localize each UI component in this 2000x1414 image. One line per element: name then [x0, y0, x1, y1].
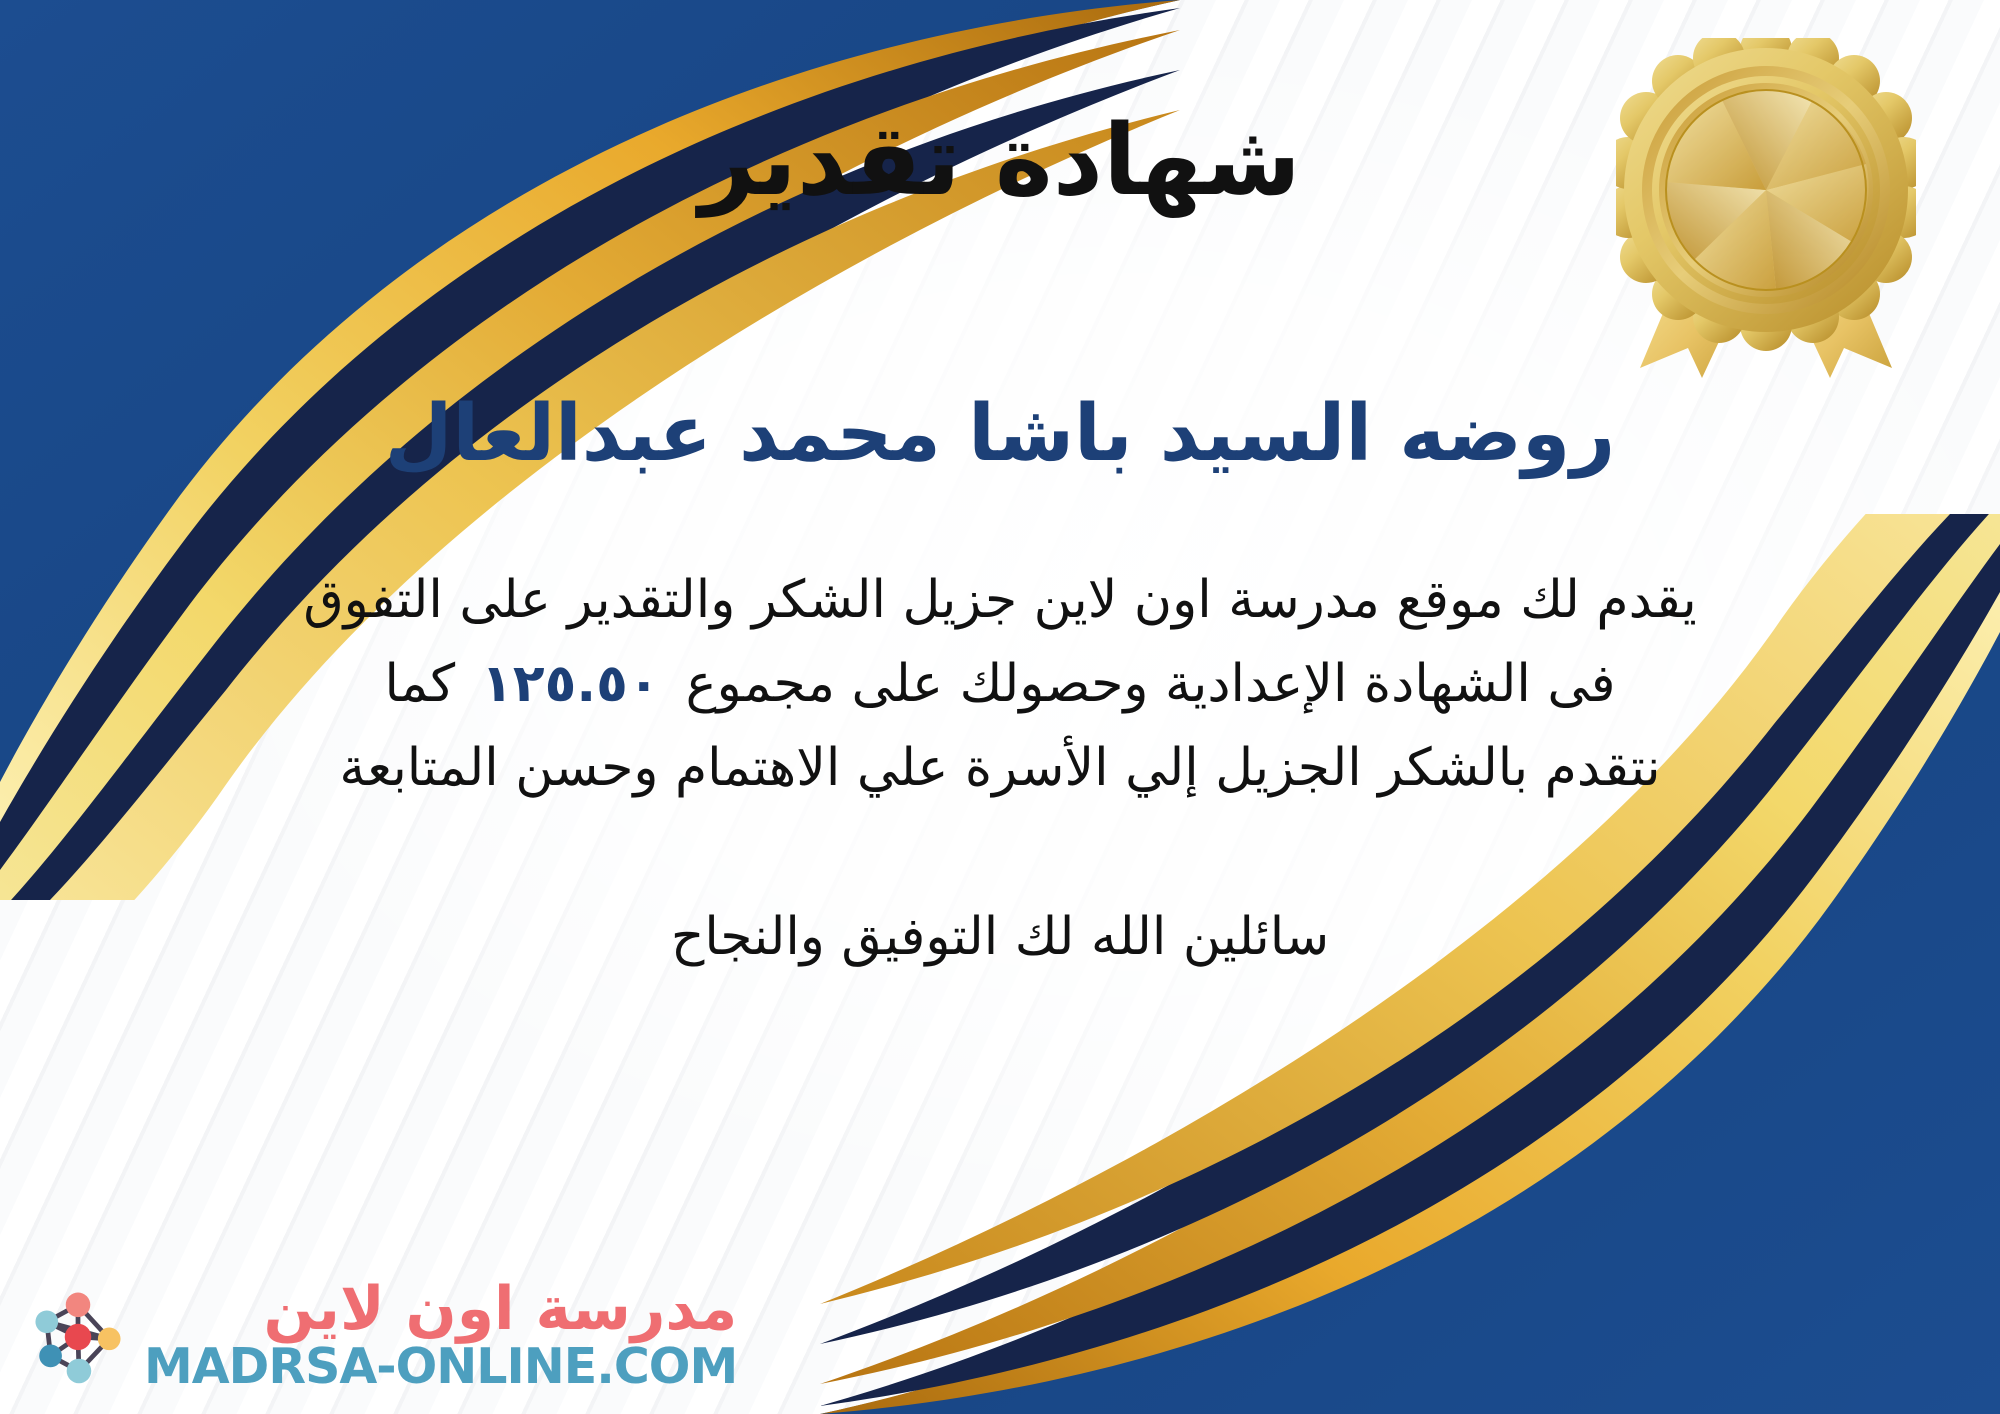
brand-text-group: مدرسة اون لاين MADRSA-ONLINE.COM	[144, 1279, 737, 1392]
page-title: شهادة تقدير	[699, 108, 1301, 216]
body-line-2: فى الشهادة الإعدادية وحصولك على مجموع١٢٥…	[70, 642, 1930, 726]
body-line-2-suffix: كما	[384, 654, 455, 714]
body-line-1: يقدم لك موقع مدرسة اون لاين جزيل الشكر و…	[70, 558, 1930, 642]
network-nodes-icon	[26, 1284, 130, 1388]
brand-website: MADRSA-ONLINE.COM	[144, 1341, 737, 1392]
brand-arabic-name: مدرسة اون لاين	[263, 1279, 737, 1340]
closing-line: سائلين الله لك التوفيق والنجاح	[671, 907, 1329, 967]
certificate-body-text: يقدم لك موقع مدرسة اون لاين جزيل الشكر و…	[70, 558, 1930, 811]
score-value: ١٢٥.٥٠	[455, 654, 685, 714]
body-line-3: نتقدم بالشكر الجزيل إلي الأسرة علي الاهت…	[70, 726, 1930, 810]
recipient-name: روضه السيد باشا محمد عبدالعال	[385, 388, 1616, 480]
brand-logo[interactable]: مدرسة اون لاين MADRSA-ONLINE.COM	[26, 1279, 737, 1392]
certificate-canvas: شهادة تقدير روضه السيد باشا محمد عبدالعا…	[0, 0, 2000, 1414]
body-line-2-prefix: فى الشهادة الإعدادية وحصولك على مجموع	[686, 654, 1616, 714]
gold-medal-rosette-icon	[1616, 38, 1916, 378]
